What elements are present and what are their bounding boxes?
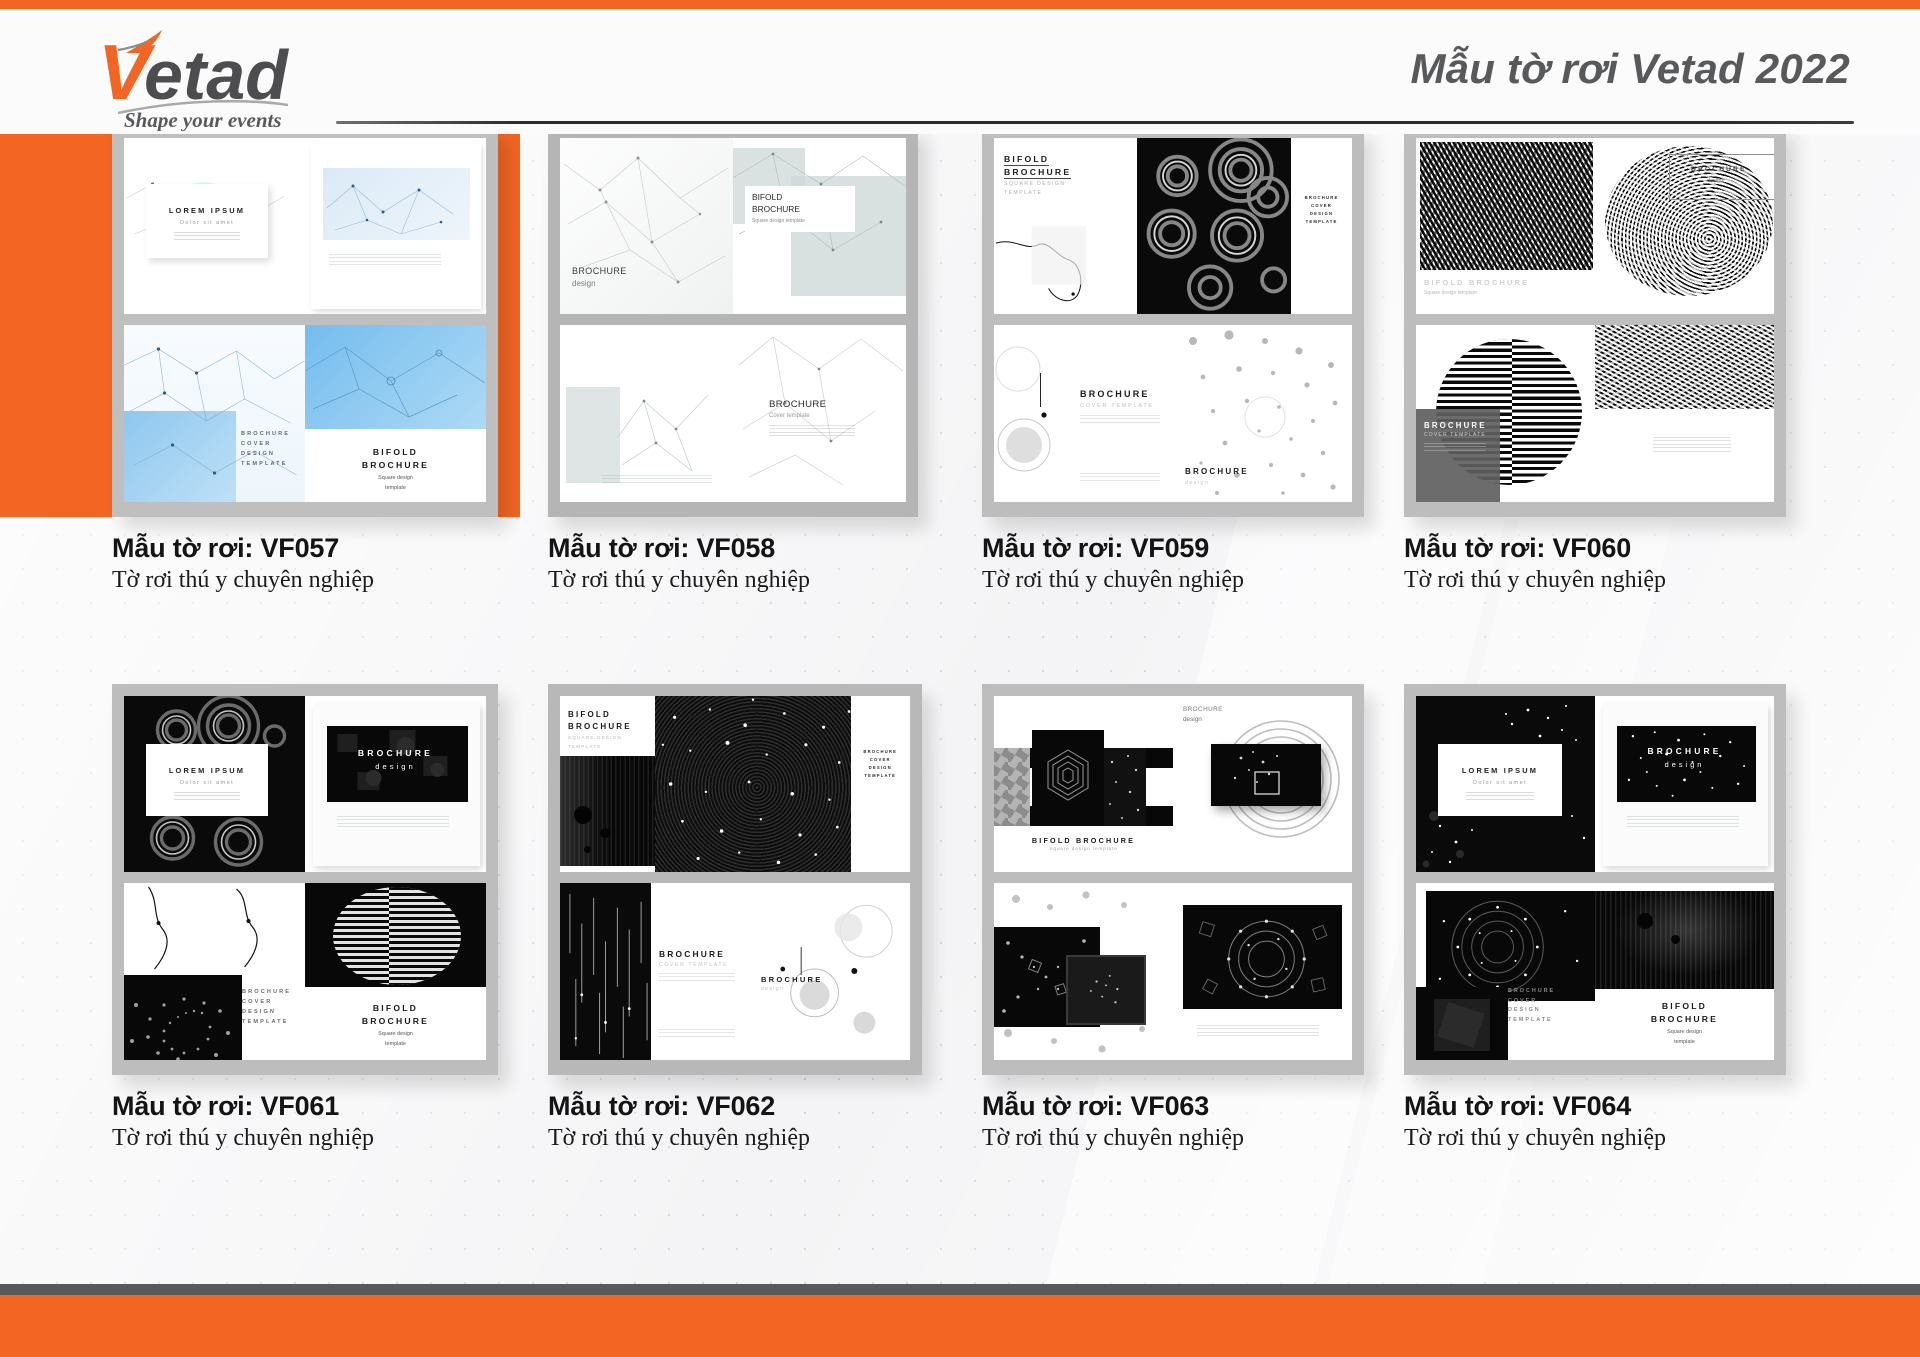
mock-design-label: design [761, 986, 784, 992]
mock-bifold-line2: BROCHURE [752, 204, 800, 214]
card-vf059[interactable]: BIFOLD BROCHURE SQUARE DESIGN TEMPLATE [982, 134, 1372, 595]
mock-lorem-title: LOREM IPSUM [146, 206, 268, 215]
brochure-mockup-vf058[interactable]: BROCHURE design BIFOLD BROCHURE [548, 134, 918, 517]
card-vf057[interactable]: LOREM IPSUM Dolor sit amet [112, 134, 512, 595]
mock-design-label: design [572, 279, 596, 288]
card-subtitle: Tờ rơi thú y chuyên nghiệp [548, 565, 928, 595]
mock-cover-line: COVER [1291, 202, 1352, 210]
card-subtitle: Tờ rơi thú y chuyên nghiệp [982, 565, 1372, 595]
mock-bifold-line3: SQUARE DESIGN [1004, 181, 1065, 187]
mock-brochure-title: BROCHURE [1691, 166, 1747, 173]
mock-cover-line: BROCHURE [1291, 194, 1352, 202]
mock-brochure-title: BROCHURE [305, 748, 486, 758]
card-vf063[interactable]: BIFOLD BROCHURE Square design template B… [982, 684, 1372, 1153]
mock-bifold-line2: BROCHURE [305, 460, 486, 470]
mock-design-label: design [1185, 480, 1209, 486]
card-caption: Mẫu tờ rơi: VF059 Tờ rơi thú y chuyên ng… [982, 533, 1372, 595]
brochure-mockup-vf061[interactable]: LOREM IPSUM Dolor sit amet [112, 684, 498, 1075]
mock-brochure-title: BROCHURE [761, 975, 822, 984]
card-subtitle: Tờ rơi thú y chuyên nghiệp [1404, 565, 1794, 595]
card-caption: Mẫu tờ rơi: VF063 Tờ rơi thú y chuyên ng… [982, 1091, 1372, 1153]
mock-lorem-title: LOREM IPSUM [1438, 766, 1562, 775]
header-divider [336, 121, 1854, 124]
mock-cover-line: DESIGN [1291, 210, 1352, 218]
mock-cover-line: DESIGN [1508, 1006, 1555, 1016]
mock-bifold-line3: Square design [1595, 1029, 1774, 1035]
card-title: Mẫu tờ rơi: VF063 [982, 1091, 1372, 1121]
mock-cover-line: TEMPLATE [851, 772, 911, 780]
footer-accent-bar [0, 1295, 1920, 1357]
mock-cover-line: TEMPLATE [1291, 218, 1352, 226]
mock-design-label: design [1183, 716, 1202, 723]
mock-brochure-title: BROCHURE [1183, 706, 1223, 713]
brochure-grid: LOREM IPSUM Dolor sit amet [0, 134, 1920, 1304]
card-vf061[interactable]: LOREM IPSUM Dolor sit amet [112, 684, 512, 1153]
mock-cover-line: COVER [242, 997, 291, 1007]
brochure-mockup-vf059[interactable]: BIFOLD BROCHURE SQUARE DESIGN TEMPLATE [982, 134, 1364, 517]
mock-bifold-line4: TEMPLATE [568, 744, 602, 749]
top-accent-bar [0, 0, 1920, 9]
mock-cover-line: COVER [851, 756, 911, 764]
topography-pattern [124, 883, 305, 975]
card-title: Mẫu tờ rơi: VF058 [548, 533, 928, 563]
mock-design-label: design [1595, 760, 1774, 769]
mock-cover-line: TEMPLATE [242, 1017, 291, 1027]
card-title: Mẫu tờ rơi: VF062 [548, 1091, 938, 1121]
mock-bifold-line4: template [305, 1041, 486, 1047]
mock-bifold-line1: BIFOLD [1595, 1001, 1774, 1011]
card-subtitle: Tờ rơi thú y chuyên nghiệp [112, 1123, 512, 1153]
card-caption: Mẫu tờ rơi: VF061 Tờ rơi thú y chuyên ng… [112, 1091, 512, 1153]
network-pattern [733, 325, 906, 502]
mock-cover-line: COVER [241, 439, 290, 449]
mock-cover-line: BROCHURE [1508, 987, 1555, 997]
mock-cover-line: BROCHURE [241, 429, 290, 439]
spiral-dots-pattern [124, 975, 242, 1060]
mock-cover-title: BROCHURE [1424, 421, 1487, 430]
mock-cover-line: DESIGN [242, 1007, 291, 1017]
mock-bifold-line4: template [305, 485, 486, 491]
mock-cover-template-label: COVER TEMPLATE [1080, 403, 1154, 409]
mock-bifold-line1: BIFOLD [752, 192, 782, 202]
network-pattern [124, 325, 305, 502]
card-vf060[interactable]: BIFOLD BROCHURE Square design template B… [1404, 134, 1794, 595]
card-caption: Mẫu tờ rơi: VF057 Tờ rơi thú y chuyên ng… [112, 533, 512, 595]
topography-pattern [994, 216, 1137, 308]
card-title: Mẫu tờ rơi: VF061 [112, 1091, 512, 1121]
accent-bar-left [0, 134, 112, 517]
mock-bifold-sub: Square design template [1424, 290, 1477, 296]
gallery-canvas: LOREM IPSUM Dolor sit amet [0, 134, 1920, 1304]
card-title: Mẫu tờ rơi: VF060 [1404, 533, 1794, 563]
mock-bifold-line2: BROCHURE [1595, 1014, 1774, 1024]
particles-pattern [655, 696, 851, 872]
mock-design-label: design [1707, 178, 1723, 184]
mock-bifold-sub: Square design template [752, 218, 805, 224]
mock-cover-title: BROCHURE [769, 399, 826, 410]
mock-cover-template-label: COVER TEMPLATE [659, 962, 728, 968]
mock-cover-line: TEMPLATE [1508, 1016, 1555, 1026]
page-title: Mẫu tờ rơi Vetad 2022 [1410, 45, 1850, 93]
card-vf058[interactable]: BROCHURE design BIFOLD BROCHURE [548, 134, 928, 595]
mock-brochure-title: BROCHURE [659, 949, 725, 959]
mock-lorem-sub: Dolor sit amet [146, 220, 268, 226]
mock-bifold-line3: Square design [305, 1031, 486, 1037]
hexagon-icon [1032, 730, 1104, 826]
accent-bar-right [498, 134, 520, 517]
mock-bifold-line3: Square design [305, 475, 486, 481]
mock-brochure-title: BROCHURE [1080, 389, 1150, 399]
mock-cover-sub: Cover template [769, 413, 810, 419]
mock-brochure-title: BROCHURE [1185, 467, 1249, 476]
mock-bifold-title: BIFOLD BROCHURE [994, 836, 1173, 845]
mock-bifold-line4: TEMPLATE [1004, 190, 1042, 196]
card-caption: Mẫu tờ rơi: VF060 Tờ rơi thú y chuyên ng… [1404, 533, 1794, 595]
vetad-logo-icon: V etad Shape your events [88, 19, 358, 131]
mock-brochure-title: BROCHURE [572, 266, 627, 276]
card-title: Mẫu tờ rơi: VF059 [982, 533, 1372, 563]
brochure-mockup-vf064[interactable]: LOREM IPSUM Dolor sit amet [1404, 684, 1786, 1075]
concentric-rings-pattern [1137, 138, 1291, 314]
brochure-mockup-vf057[interactable]: LOREM IPSUM Dolor sit amet [112, 134, 498, 517]
mock-bifold-line2: BROCHURE [1004, 167, 1071, 179]
hud-rings-pattern [1183, 905, 1342, 1009]
card-subtitle: Tờ rơi thú y chuyên nghiệp [1404, 1123, 1794, 1153]
mock-brochure-title: BROCHURE [1595, 746, 1774, 756]
brochure-mockup-vf062[interactable]: BIFOLD BROCHURE SQUARE DESIGN TEMPLATE [548, 684, 922, 1075]
svg-text:Shape your events: Shape your events [124, 108, 282, 131]
mock-cover-line: DESIGN [851, 764, 911, 772]
bubbles-pattern [749, 883, 910, 1060]
mock-lorem-title: LOREM IPSUM [146, 766, 268, 775]
hud-rings-pattern [1426, 891, 1595, 1001]
rain-lines-pattern [560, 883, 651, 1060]
vetad-logo[interactable]: V etad Shape your events [88, 19, 358, 131]
card-caption: Mẫu tờ rơi: VF058 Tờ rơi thú y chuyên ng… [548, 533, 928, 595]
card-subtitle: Tờ rơi thú y chuyên nghiệp [548, 1123, 938, 1153]
card-subtitle: Tờ rơi thú y chuyên nghiệp [112, 565, 512, 595]
mock-bifold-sub: Square design template [994, 847, 1173, 852]
mock-lorem-sub: Dolor sit amet [1438, 780, 1562, 786]
mock-bifold-line2: BROCHURE [305, 1016, 486, 1026]
mock-bifold-title: BIFOLD BROCHURE [1424, 278, 1529, 287]
mock-design-label: design [305, 762, 486, 771]
card-caption: Mẫu tờ rơi: VF062 Tờ rơi thú y chuyên ng… [548, 1091, 938, 1153]
brochure-mockup-vf060[interactable]: BIFOLD BROCHURE Square design template B… [1404, 134, 1786, 517]
card-subtitle: Tờ rơi thú y chuyên nghiệp [982, 1123, 1372, 1153]
network-pattern [323, 168, 473, 240]
mock-bifold-line3: SQUARE DESIGN [568, 735, 622, 740]
card-title: Mẫu tờ rơi: VF057 [112, 533, 512, 563]
footer-divider-bar [0, 1284, 1920, 1295]
mock-bifold-line1: BIFOLD [1004, 154, 1049, 166]
mock-bifold-line2: BROCHURE [568, 722, 632, 731]
mock-bifold-line1: BIFOLD [305, 1003, 486, 1013]
page-header: V etad Shape your events Mẫu tờ rơi Veta… [0, 9, 1920, 134]
mock-cover-sub: COVER TEMPLATE [1424, 432, 1486, 438]
card-vf064[interactable]: LOREM IPSUM Dolor sit amet [1404, 684, 1794, 1153]
card-title: Mẫu tờ rơi: VF064 [1404, 1091, 1794, 1121]
mock-lorem-sub: Dolor sit amet [146, 780, 268, 786]
mock-cover-line: DESIGN [241, 449, 290, 459]
mock-cover-line: BROCHURE [851, 748, 911, 756]
brochure-mockup-vf063[interactable]: BIFOLD BROCHURE Square design template B… [982, 684, 1364, 1075]
mock-bifold-line1: BIFOLD [305, 447, 486, 457]
card-vf062[interactable]: BIFOLD BROCHURE SQUARE DESIGN TEMPLATE [548, 684, 938, 1153]
card-caption: Mẫu tờ rơi: VF064 Tờ rơi thú y chuyên ng… [1404, 1091, 1794, 1153]
mock-bifold-line4: template [1595, 1039, 1774, 1045]
mock-cover-line: TEMPLATE [241, 459, 290, 469]
mock-cover-line: BROCHURE [242, 987, 291, 997]
network-pattern [305, 325, 485, 429]
mock-bifold-line1: BIFOLD [568, 710, 611, 719]
mock-cover-line: COVER [1508, 997, 1555, 1007]
